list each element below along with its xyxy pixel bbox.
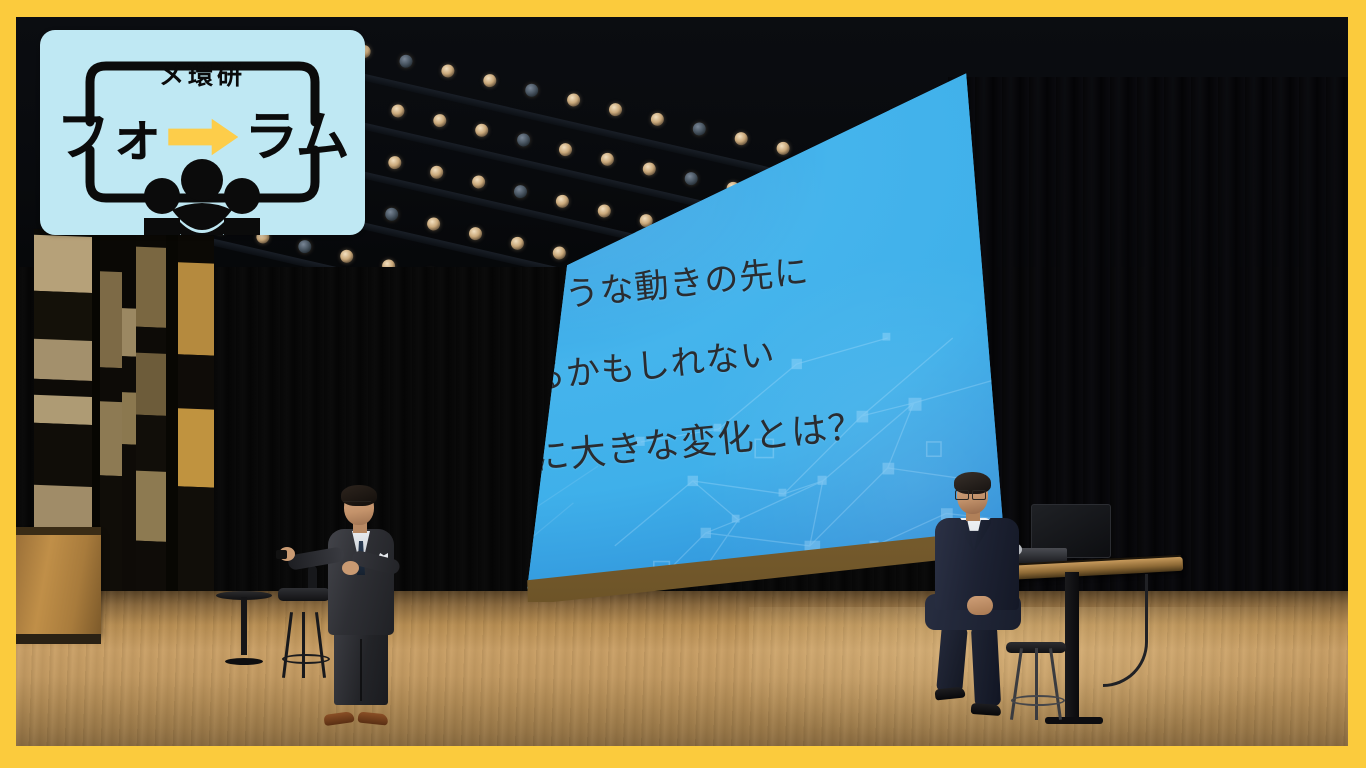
panelist-glasses-icon bbox=[955, 490, 986, 499]
slide-line-1: このような動きの先に bbox=[458, 244, 811, 327]
panelist-shoe-left bbox=[935, 686, 966, 700]
round-side-table bbox=[216, 591, 272, 661]
frame-border-top bbox=[0, 0, 1366, 17]
presenter-shoe-right bbox=[358, 711, 389, 725]
presenter-clicker bbox=[276, 550, 287, 559]
seated-panelist bbox=[933, 476, 1063, 724]
slide-line-2: 起こるかもしれない bbox=[459, 326, 777, 406]
panelist-shoe-right bbox=[971, 703, 1002, 716]
forum-logo-badge: メ環研 フォ ラム bbox=[40, 30, 365, 235]
frame-border-right bbox=[1348, 0, 1366, 768]
panelist-clasped-hands bbox=[967, 596, 993, 615]
podium-cable bbox=[1103, 574, 1148, 687]
screenshot-root: このような動きの先に 起こるかもしれない さらに大きな変化とは？ bbox=[0, 0, 1366, 768]
frame-border-bottom bbox=[0, 746, 1366, 768]
projection-screen-wrap: このような動きの先に 起こるかもしれない さらに大きな変化とは？ bbox=[351, 57, 1016, 602]
frame-border-left bbox=[0, 0, 16, 768]
presenter-shoe-left bbox=[323, 711, 354, 726]
wooden-lectern bbox=[16, 531, 101, 634]
standing-presenter bbox=[306, 489, 426, 724]
projection-screen: このような動きの先に 起こるかもしれない さらに大きな変化とは？ bbox=[351, 57, 1016, 602]
presenter-glasses-icon bbox=[343, 501, 371, 509]
slide-line-3: さらに大きな変化とは？ bbox=[457, 397, 867, 488]
slide-text-block: このような動きの先に 起こるかもしれない さらに大きな変化とは？ bbox=[351, 57, 1016, 602]
three-people-icon bbox=[40, 30, 365, 235]
